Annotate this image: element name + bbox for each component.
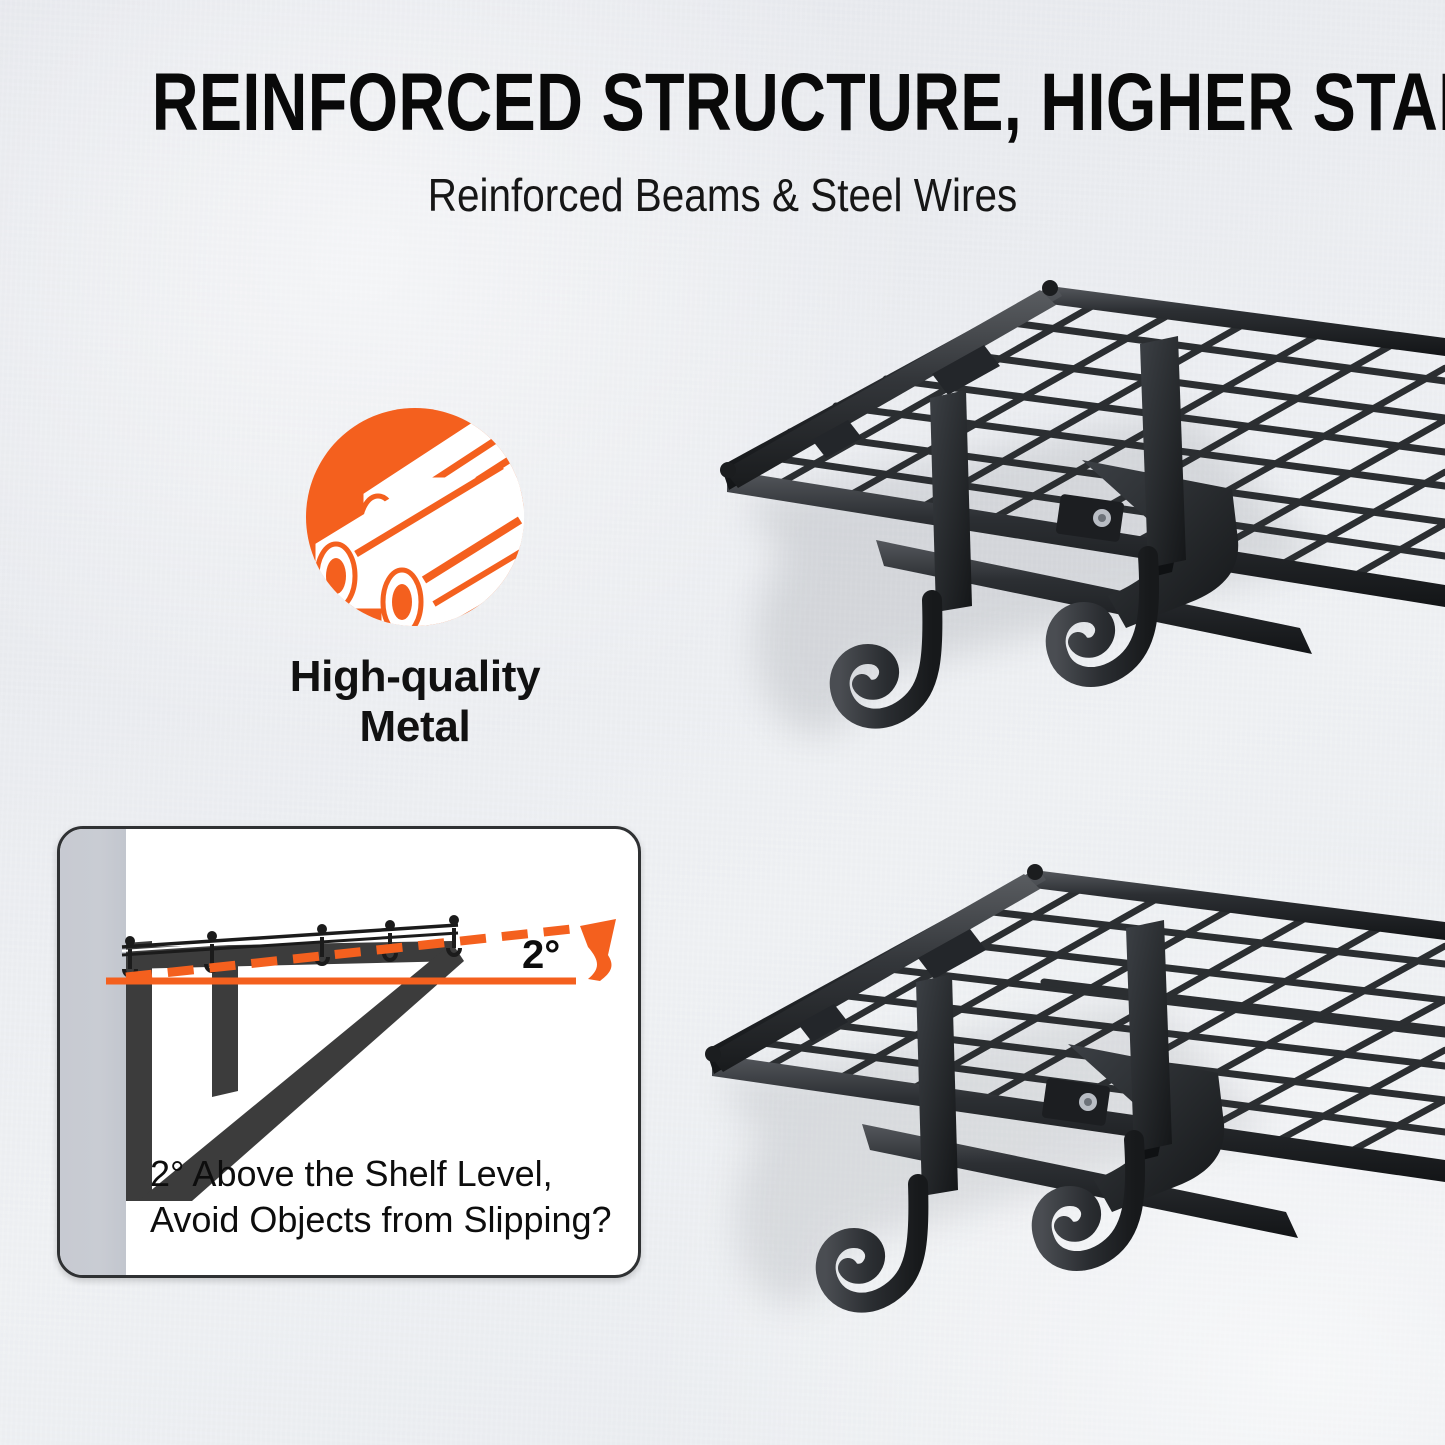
diagram-caption: 2° Above the Shelf Level, Avoid Objects … [150, 1151, 620, 1243]
badge-label: High-quality Metal [250, 652, 580, 752]
badge-circle [306, 408, 524, 626]
metal-pipes-icon [306, 408, 524, 626]
feature-badge: High-quality Metal [250, 408, 580, 752]
page-title: REINFORCED STRUCTURE, HIGHER STABILITY [152, 62, 1294, 144]
diagram-caption-line-2: Avoid Objects from Slipping? [150, 1197, 620, 1243]
angle-value-label: 2° [522, 933, 560, 978]
curved-rotate-arrow-icon [580, 919, 616, 981]
tilt-angle-diagram-card: 2° 2° Above the Shelf Level, Avoid Objec… [57, 826, 641, 1278]
diagram-caption-line-1: 2° Above the Shelf Level, [150, 1151, 620, 1197]
product-feature-banner: REINFORCED STRUCTURE, HIGHER STABILITY R… [0, 0, 1445, 1445]
page-subtitle: Reinforced Beams & Steel Wires [87, 172, 1359, 218]
